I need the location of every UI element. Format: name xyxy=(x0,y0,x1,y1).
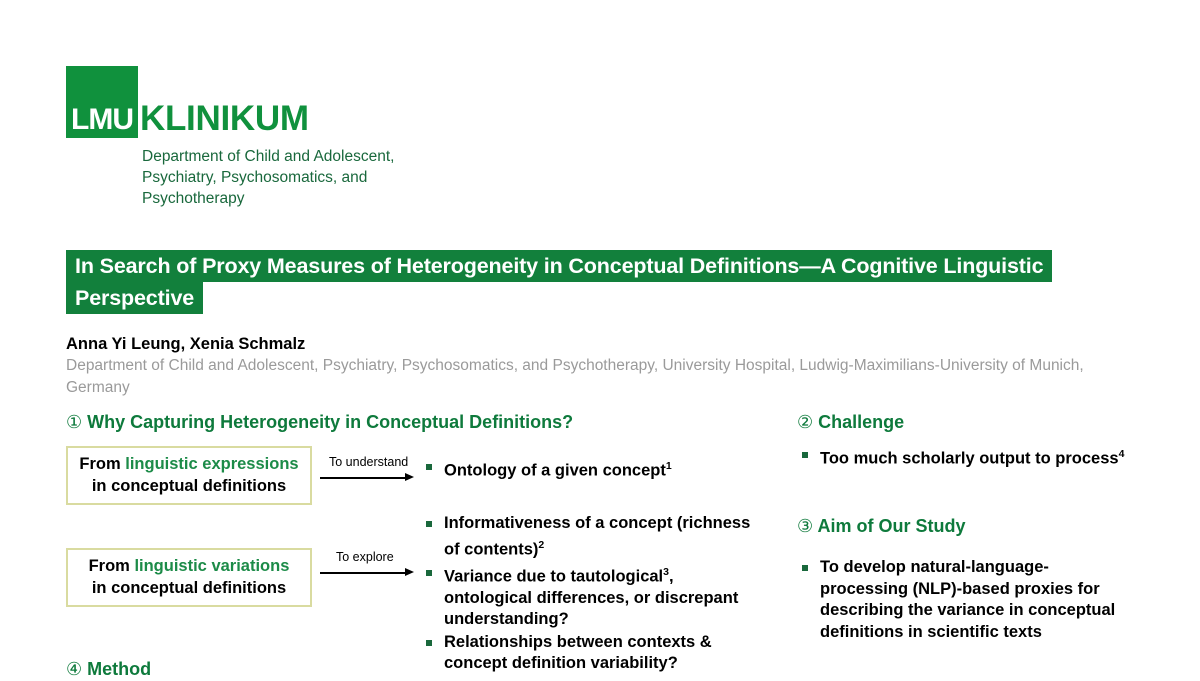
section-4-heading: ④ Method xyxy=(66,657,151,681)
bullet-text: Too much scholarly output to process xyxy=(820,450,1119,468)
section-2-heading-text: Challenge xyxy=(818,412,904,432)
concept-box-1-line-1: From linguistic expressions xyxy=(76,453,302,475)
section-2-heading: ② Challenge xyxy=(797,410,1147,434)
concept-box-2-line-1: From linguistic variations xyxy=(76,555,302,577)
concept-box-linguistic-variations: From linguistic variations in conceptual… xyxy=(66,548,312,607)
section-3-heading-text: Aim of Our Study xyxy=(817,516,965,536)
bullet-square-icon xyxy=(802,452,808,458)
bullet-square-icon xyxy=(426,521,432,527)
bullet-square-icon xyxy=(426,570,432,576)
department-subtitle-line-1: Department of Child and Adolescent, xyxy=(142,146,472,167)
bullet-text: To develop natural-language-processing (… xyxy=(820,558,1115,641)
bullet-superscript: 4 xyxy=(1119,448,1125,460)
department-subtitle: Department of Child and Adolescent, Psyc… xyxy=(142,146,472,209)
concept-box-1-line-2: in conceptual definitions xyxy=(76,475,302,497)
arrow-to-explore-head xyxy=(405,568,414,576)
klinikum-wordmark: KLINIKUM xyxy=(140,100,309,138)
logo-row: LMU KLINIKUM xyxy=(66,66,766,138)
concept-box-1-prefix: From xyxy=(79,455,125,473)
poster-title-line-2: Perspective xyxy=(66,282,203,314)
bullet-text: Variance due to tautological xyxy=(444,567,663,585)
list-item: Too much scholarly output to process4 xyxy=(797,444,1142,470)
lmu-logo-letters: LMU xyxy=(68,103,136,136)
section-4-heading-text: Method xyxy=(87,659,151,679)
bullet-superscript: 2 xyxy=(538,539,544,551)
bullet-square-icon xyxy=(426,640,432,646)
list-item: Ontology of a given concept1 xyxy=(421,456,761,482)
arrow-to-understand-line xyxy=(320,477,406,479)
list-item: Variance due to tautological3, ontologic… xyxy=(421,562,761,631)
section-3-number: ③ xyxy=(797,516,813,536)
arrow-to-explore-label: To explore xyxy=(336,550,394,564)
section-3-bullet-list: To develop natural-language-processing (… xyxy=(797,557,1122,643)
bullet-square-icon xyxy=(426,464,432,470)
list-item: To develop natural-language-processing (… xyxy=(797,557,1122,643)
institution-logo-block: LMU KLINIKUM Department of Child and Ado… xyxy=(66,66,766,138)
arrow-to-explore: To explore xyxy=(320,550,415,584)
arrow-to-understand-label: To understand xyxy=(329,455,408,469)
department-subtitle-line-3: Psychotherapy xyxy=(142,188,472,209)
list-item: Relationships between contexts & concept… xyxy=(421,632,761,675)
bullet-text: Ontology of a given concept xyxy=(444,462,666,480)
concept-box-2-line-2: in conceptual definitions xyxy=(76,577,302,599)
concept-box-1-highlight: linguistic expressions xyxy=(125,455,298,473)
author-affiliation: Department of Child and Adolescent, Psyc… xyxy=(66,355,1134,399)
section-4-number: ④ xyxy=(66,659,82,679)
section-1-column: ① Why Capturing Heterogeneity in Concept… xyxy=(66,410,766,434)
author-names: Anna Yi Leung, Xenia Schmalz xyxy=(66,333,305,355)
poster-title-line-1: In Search of Proxy Measures of Heterogen… xyxy=(66,250,1052,282)
department-subtitle-line-2: Psychiatry, Psychosomatics, and xyxy=(142,167,472,188)
concept-box-2-highlight: linguistic variations xyxy=(134,557,289,575)
section-2-number: ② xyxy=(797,412,813,432)
concept-box-linguistic-expressions: From linguistic expressions in conceptua… xyxy=(66,446,312,505)
section-1-bullet-list: Ontology of a given concept1 Informative… xyxy=(421,410,761,675)
section-1-number: ① xyxy=(66,412,82,432)
arrow-to-understand: To understand xyxy=(320,455,415,489)
list-item: Informativeness of a concept (richness o… xyxy=(421,513,761,561)
bullet-text: Relationships between contexts & concept… xyxy=(444,633,712,673)
arrow-to-explore-line xyxy=(320,572,406,574)
section-2-bullet-list: Too much scholarly output to process4 xyxy=(797,444,1142,470)
poster-title: In Search of Proxy Measures of Heterogen… xyxy=(66,250,1136,314)
bullet-square-icon xyxy=(802,565,808,571)
bullet-text: Informativeness of a concept (richness o… xyxy=(444,514,750,558)
section-3-heading: ③ Aim of Our Study xyxy=(797,514,1147,538)
bullet-superscript: 1 xyxy=(666,460,672,472)
section-2-3-column: ② Challenge Too much scholarly output to… xyxy=(797,410,1147,643)
arrow-to-understand-head xyxy=(405,473,414,481)
concept-box-2-prefix: From xyxy=(89,557,135,575)
